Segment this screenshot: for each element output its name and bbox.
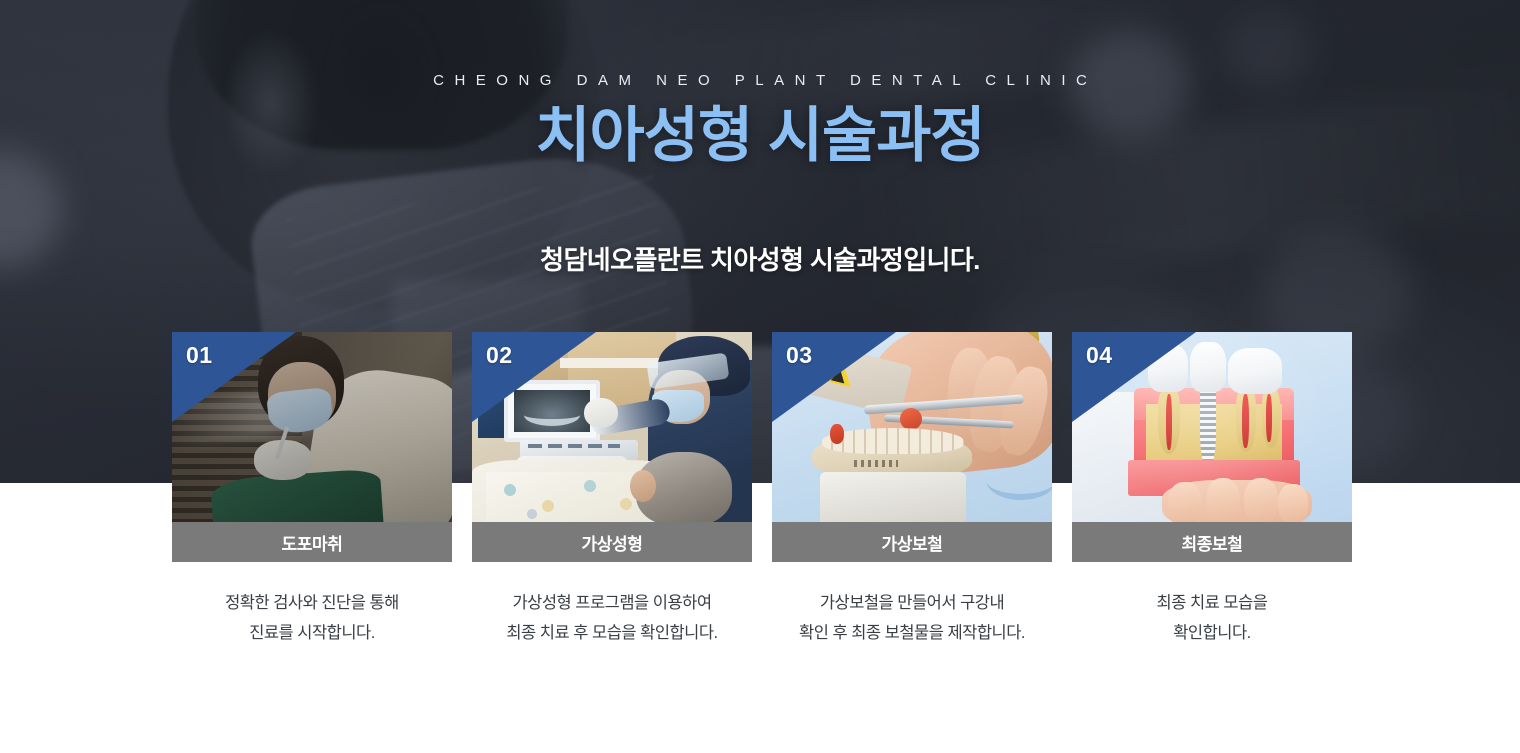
process-step-card[interactable]: 01 도포마취 정확한 검사와 진단을 통해 진료를 시작합니다. bbox=[172, 332, 452, 648]
photo-layer-patient-ear bbox=[630, 470, 656, 502]
photo-layer-cast-base bbox=[820, 472, 966, 522]
page-title: 치아성형 시술과정 bbox=[0, 101, 1520, 172]
step-caption: 가상보철 bbox=[772, 522, 1052, 562]
step-image-2: 02 bbox=[472, 332, 752, 522]
step-description: 가상성형 프로그램을 이용하여 최종 치료 후 모습을 확인합니다. bbox=[472, 588, 752, 648]
photo-layer-glove bbox=[584, 398, 618, 428]
step-description: 최종 치료 모습을 확인합니다. bbox=[1072, 588, 1352, 648]
process-step-card[interactable]: 04 최종보철 최종 치료 모습을 확인합니다. bbox=[1072, 332, 1352, 648]
photo-layer-xray-arch bbox=[524, 404, 580, 426]
page-root: CHEONG DAM NEO PLANT DENTAL CLINIC 치아성형 … bbox=[0, 0, 1520, 753]
photo-layer-instruments bbox=[528, 444, 620, 448]
step-image-3: 03 bbox=[772, 332, 1052, 522]
hero-eyebrow: CHEONG DAM NEO PLANT DENTAL CLINIC bbox=[0, 72, 1520, 89]
step-number-label: 01 bbox=[186, 342, 213, 369]
step-caption: 가상성형 bbox=[472, 522, 752, 562]
process-step-card[interactable]: 02 가상성형 가상성형 프로그램을 이용하여 최종 치료 후 모습을 확인합니… bbox=[472, 332, 752, 648]
photo-layer-red-marker bbox=[830, 424, 844, 444]
step-number-label: 04 bbox=[1086, 342, 1113, 369]
hero-text-block: CHEONG DAM NEO PLANT DENTAL CLINIC 치아성형 … bbox=[0, 0, 1520, 277]
photo-layer-red-marker bbox=[900, 408, 922, 430]
process-step-list: 01 도포마취 정확한 검사와 진단을 통해 진료를 시작합니다. bbox=[172, 332, 1352, 648]
step-description-line: 정확한 검사와 진단을 통해 bbox=[172, 588, 452, 618]
step-number-label: 03 bbox=[786, 342, 813, 369]
step-description: 정확한 검사와 진단을 통해 진료를 시작합니다. bbox=[172, 588, 452, 648]
step-description-line: 확인 후 최종 보철물을 제작합니다. bbox=[772, 618, 1052, 648]
photo-layer-background-arch bbox=[986, 460, 1052, 500]
step-description-line: 진료를 시작합니다. bbox=[172, 618, 452, 648]
process-step-card[interactable]: 03 가상보철 가상보철을 만들어서 구강내 확인 후 최종 보철물을 제작합니… bbox=[772, 332, 1052, 648]
step-caption: 최종보철 bbox=[1072, 522, 1352, 562]
step-description-line: 가상성형 프로그램을 이용하여 bbox=[472, 588, 752, 618]
step-description: 가상보철을 만들어서 구강내 확인 후 최종 보철물을 제작합니다. bbox=[772, 588, 1052, 648]
step-number-label: 02 bbox=[486, 342, 513, 369]
photo-layer-cast-label bbox=[854, 460, 898, 467]
step-description-line: 최종 치료 모습을 bbox=[1072, 588, 1352, 618]
step-caption: 도포마취 bbox=[172, 522, 452, 562]
step-image-4: 04 bbox=[1072, 332, 1352, 522]
step-description-line: 최종 치료 후 모습을 확인합니다. bbox=[472, 618, 752, 648]
step-description-line: 확인합니다. bbox=[1072, 618, 1352, 648]
step-description-line: 가상보철을 만들어서 구강내 bbox=[772, 588, 1052, 618]
hero-subtitle: 청담네오플란트 치아성형 시술과정입니다. bbox=[0, 240, 1520, 277]
step-image-1: 01 bbox=[172, 332, 452, 522]
